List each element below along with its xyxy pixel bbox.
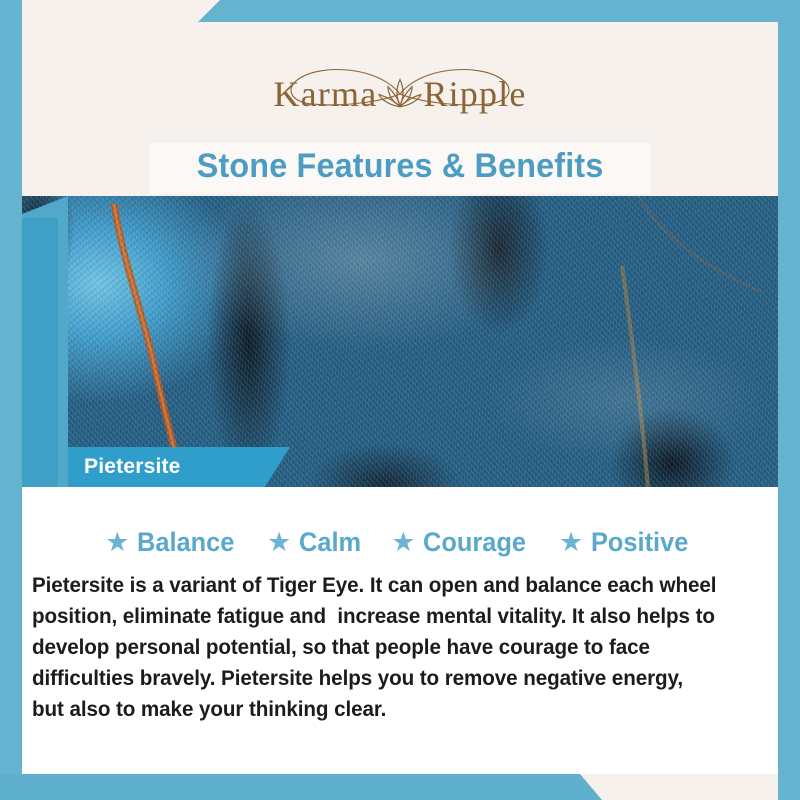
left-accent-bar xyxy=(0,0,22,800)
left-vertical-accent xyxy=(22,218,58,518)
photo-highlight-layer xyxy=(22,196,778,487)
title-banner: Stone Features & Benefits xyxy=(22,140,778,196)
benefit-item: ★ Courage xyxy=(391,527,533,558)
right-accent-bar xyxy=(778,0,800,800)
brand-name-right: Ripple xyxy=(423,73,526,115)
benefit-item: ★ Positive xyxy=(559,527,695,558)
benefit-label: Calm xyxy=(299,527,361,558)
bottom-accent-bar xyxy=(0,774,800,800)
infographic-poster: Karma Ripple Stone Features & Benefits xyxy=(0,0,800,800)
star-icon: ★ xyxy=(267,529,291,556)
brand-logo: Karma Ripple xyxy=(22,36,778,152)
star-icon: ★ xyxy=(559,529,583,556)
benefit-item: ★ Balance xyxy=(105,527,241,558)
top-accent-bar xyxy=(0,0,800,22)
content-panel: ★ Balance ★ Calm ★ Courage ★ Positive Pi… xyxy=(22,487,778,774)
stone-photo: Pietersite xyxy=(22,196,778,487)
benefit-item: ★ Calm xyxy=(267,527,365,558)
brand-name-left: Karma xyxy=(273,73,377,115)
page-title: Stone Features & Benefits xyxy=(197,147,604,186)
benefits-row: ★ Balance ★ Calm ★ Courage ★ Positive xyxy=(22,487,778,558)
benefit-label: Courage xyxy=(423,527,526,558)
star-icon: ★ xyxy=(391,529,415,556)
lotus-icon xyxy=(377,76,423,110)
stone-description: Pietersite is a variant of Tiger Eye. It… xyxy=(32,570,717,725)
benefit-label: Balance xyxy=(137,527,234,558)
page-surface: Karma Ripple Stone Features & Benefits xyxy=(22,22,778,774)
star-icon: ★ xyxy=(105,529,129,556)
benefit-label: Positive xyxy=(591,527,688,558)
